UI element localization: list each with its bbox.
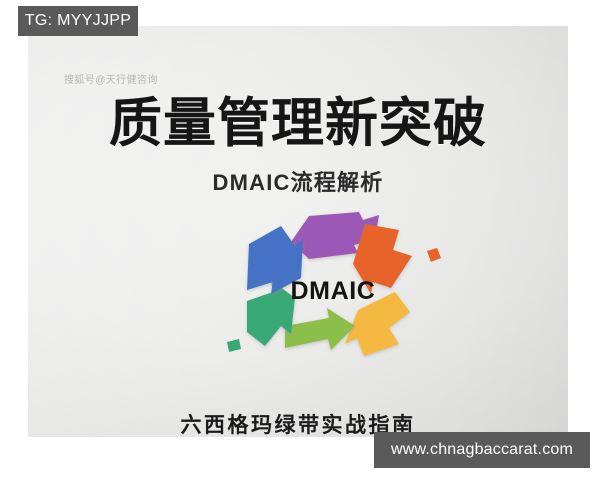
screenshot-root: 搜狐号@天行健咨询 质量管理新突破 DMAIC流程解析	[0, 0, 600, 480]
corner-faint-watermark: 天行健咨询	[508, 418, 556, 431]
arrow-segment-improve	[285, 308, 355, 350]
sohu-watermark-text: 搜狐号@天行健咨询	[64, 71, 158, 86]
arrow-segment-review	[247, 226, 303, 294]
watermark-bottom-right: www.chnagbaccarat.com	[374, 432, 590, 468]
arrow-segment-analyze	[345, 292, 410, 356]
arrow-segment-measure	[353, 224, 412, 294]
dmaic-cycle-diagram: DMAIC	[213, 206, 453, 381]
watermark-top-left: TG: MYYJJPP	[18, 6, 138, 36]
slide-subtitle: DMAIC流程解析	[28, 165, 568, 197]
slide-main-title: 质量管理新突破	[28, 96, 568, 152]
confetti-green-icon	[227, 339, 241, 352]
presentation-slide: 搜狐号@天行健咨询 质量管理新突破 DMAIC流程解析	[28, 26, 568, 437]
confetti-orange-icon	[427, 248, 441, 262]
